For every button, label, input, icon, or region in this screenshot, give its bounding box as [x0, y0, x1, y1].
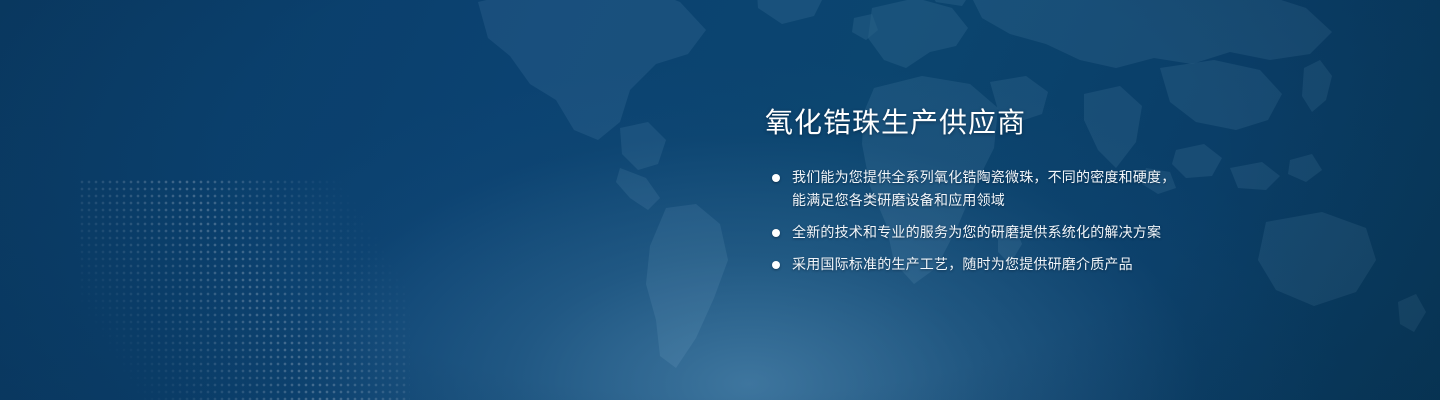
feature-text-line-1: 我们能为您提供全系列氧化锆陶瓷微珠，不同的密度和硬度，	[792, 166, 1405, 189]
bullet-dot-icon	[772, 174, 780, 182]
zirconia-beads-photo	[0, 0, 760, 400]
list-item: 我们能为您提供全系列氧化锆陶瓷微珠，不同的密度和硬度， 能满足您各类研磨设备和应…	[765, 166, 1405, 212]
feature-text-line-1: 全新的技术和专业的服务为您的研磨提供系统化的解决方案	[792, 221, 1405, 244]
banner-copy: 氧化锆珠生产供应商 我们能为您提供全系列氧化锆陶瓷微珠，不同的密度和硬度， 能满…	[765, 106, 1405, 276]
feature-list: 我们能为您提供全系列氧化锆陶瓷微珠，不同的密度和硬度， 能满足您各类研磨设备和应…	[765, 166, 1405, 276]
hero-banner: 氧化锆珠生产供应商 我们能为您提供全系列氧化锆陶瓷微珠，不同的密度和硬度， 能满…	[0, 0, 1440, 400]
list-item: 采用国际标准的生产工艺，随时为您提供研磨介质产品	[765, 253, 1405, 276]
bullet-dot-icon	[772, 261, 780, 269]
feature-text-line-1: 采用国际标准的生产工艺，随时为您提供研磨介质产品	[792, 253, 1405, 276]
list-item: 全新的技术和专业的服务为您的研磨提供系统化的解决方案	[765, 221, 1405, 244]
page-title: 氧化锆珠生产供应商	[765, 106, 1405, 140]
feature-text-line-2: 能满足您各类研磨设备和应用领域	[792, 189, 1405, 212]
bullet-dot-icon	[772, 229, 780, 237]
